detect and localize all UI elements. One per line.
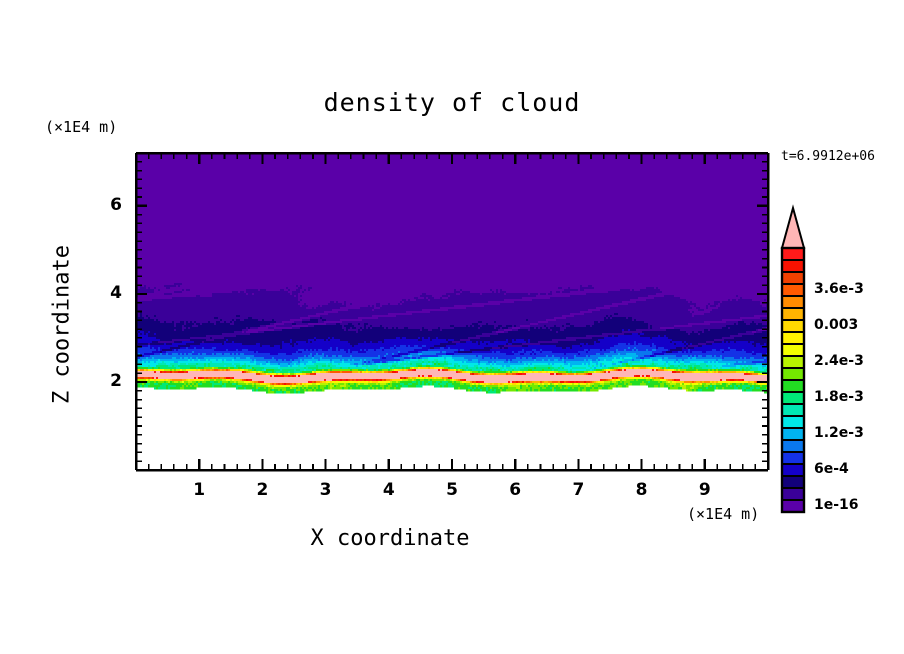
colorbar-tick-label: 1.2e-3	[814, 425, 864, 441]
x-axis-unit-label: (×1E4 m)	[687, 505, 759, 523]
y-tick-label: 4	[92, 283, 122, 303]
colorbar-tick-label: 2.4e-3	[814, 353, 864, 369]
y-tick-label: 2	[92, 371, 122, 391]
x-axis-title: X coordinate	[0, 526, 780, 551]
colorbar-tick-label: 1e-16	[814, 497, 859, 513]
x-tick-label: 2	[247, 480, 277, 500]
x-tick-label: 6	[500, 480, 530, 500]
figure-canvas: density of cloud (×1E4 m) t=6.9912e+06 1…	[0, 0, 904, 654]
colorbar-tick-label: 3.6e-3	[814, 281, 864, 297]
colorbar-tick-label: 1.8e-3	[814, 389, 864, 405]
x-tick-label: 9	[690, 480, 720, 500]
colorbar-tick-label: 0.003	[814, 317, 858, 333]
x-tick-label: 8	[627, 480, 657, 500]
x-tick-label: 3	[311, 480, 341, 500]
x-tick-label: 4	[374, 480, 404, 500]
x-tick-label: 5	[437, 480, 467, 500]
colorbar-tick-label: 6e-4	[814, 461, 849, 477]
x-tick-label: 7	[563, 480, 593, 500]
y-tick-label: 6	[92, 195, 122, 215]
x-tick-label: 1	[184, 480, 214, 500]
colorbar-swatches	[782, 208, 804, 512]
y-axis-title: Z coordinate	[50, 215, 75, 435]
contour-plot	[0, 0, 904, 654]
